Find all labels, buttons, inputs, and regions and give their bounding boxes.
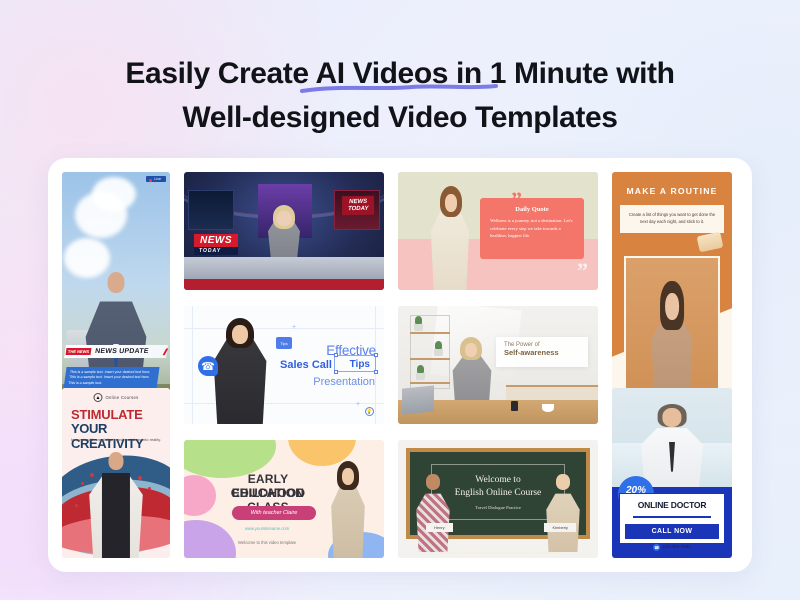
site-url[interactable]: www.yoursitename.com — [184, 526, 350, 531]
news-banner: THE NEWS NEWS UPDATE /// — [64, 345, 168, 358]
english-subtitle: Travel Dialogue Practice — [475, 505, 521, 510]
presenter-face — [445, 194, 457, 212]
chalkboard-inner-frame: Welcome to English Online Course Travel … — [431, 464, 565, 520]
guide-line — [184, 403, 384, 404]
template-grid: Live THE NEWS NEWS UPDATE /// This is a … — [62, 172, 738, 558]
template-card-online-doctor[interactable]: 20% OFF ONLINE DOCTOR CALL NOW ☎123-456-… — [612, 388, 732, 558]
news-logo-sub: TODAY — [194, 247, 238, 255]
live-badge: Live — [146, 176, 166, 182]
course-badge-label: Online Courses — [105, 395, 138, 400]
caption-text: Welcome to this video template — [184, 540, 350, 545]
page-title: Easily Create AI Videos in 1 Minute with… — [0, 52, 800, 139]
stimulate-title-1: STIMULATE — [71, 407, 143, 422]
template-card-sales-call-tips[interactable]: ☎ Tips + + Effective Sales Call Tips Pre… — [184, 306, 384, 424]
phone-icon: ☎ — [198, 356, 218, 376]
english-title-2: English Online Course — [455, 487, 542, 500]
template-card-english-online-course[interactable]: Welcome to English Online Course Travel … — [398, 440, 598, 558]
resize-handle[interactable] — [374, 370, 378, 374]
course-badge: ▲ Online Courses — [93, 393, 138, 402]
call-now-button[interactable]: CALL NOW — [625, 524, 719, 539]
quote-title: Daily Quote — [490, 206, 574, 213]
presenter-right-face — [556, 474, 570, 489]
template-card-make-a-routine[interactable]: MAKE A ROUTINE Create a list of things y… — [612, 172, 732, 424]
lightbulb-icon: 💡 — [365, 407, 374, 416]
anchor-face — [277, 211, 292, 226]
shelf-board — [410, 332, 450, 334]
slash-decor-icon: /// — [163, 347, 166, 357]
routine-title: MAKE A ROUTINE — [612, 186, 732, 196]
phone-icon: ☎ — [653, 544, 660, 551]
presenter-head — [108, 272, 125, 293]
plant-icon — [434, 348, 443, 356]
headline-line-1: Easily Create AI Videos in 1 Minute with — [0, 52, 800, 96]
studio-desk-front — [184, 279, 384, 290]
crosshair-icon: + — [292, 324, 296, 331]
breaking-tag: THE NEWS — [66, 348, 92, 355]
credenza — [506, 385, 598, 400]
steam-plume-icon — [64, 238, 110, 278]
plant-icon — [416, 372, 425, 380]
template-card-daily-quote[interactable]: ” Daily Quote Wellness is a journey, not… — [398, 172, 598, 290]
news-screen-logo: NEWS TODAY — [341, 195, 374, 215]
doctor-face — [662, 408, 681, 426]
stimulate-title-2: YOUR CREATIVITY — [71, 421, 170, 451]
template-card-stimulate-creativity[interactable]: ▲ Online Courses STIMULATE YOUR CREATIVI… — [62, 388, 170, 558]
presenter-head — [109, 452, 124, 470]
presenter-face — [342, 468, 354, 485]
graduation-cap-icon: ▲ — [93, 393, 102, 402]
sales-title-highlight: Tips — [347, 358, 373, 371]
quote-body: Wellness is a journey, not a destination… — [490, 217, 574, 240]
template-gallery-panel: Live THE NEWS NEWS UPDATE /// This is a … — [48, 158, 752, 572]
stimulate-body: Innovate with creativity, transform idea… — [71, 437, 162, 443]
template-card-news-today-studio[interactable]: NEWS TODAY NEWS TODAY — [184, 172, 384, 290]
brush-underline-icon — [300, 82, 500, 96]
steam-plume-icon — [92, 177, 136, 211]
promo-card: ONLINE DOCTOR CALL NOW ☎123-456-7890 — [619, 493, 725, 544]
quote-box: Daily Quote Wellness is a journey, not a… — [480, 198, 584, 259]
news-banner-body: This is a sample text. Insert your desir… — [63, 367, 159, 389]
shelf-board — [410, 358, 450, 360]
divider — [633, 516, 711, 518]
sales-title-2: Sales Call — [280, 359, 332, 371]
shelf-board — [410, 382, 450, 384]
name-tag-right: Kimberly — [544, 523, 576, 532]
guide-line — [184, 328, 384, 329]
studio-screen-left — [188, 190, 234, 230]
news-screen-logo-bottom: TODAY — [348, 205, 369, 212]
guide-line — [192, 306, 193, 424]
resize-handle[interactable] — [374, 353, 378, 357]
phone-number-row[interactable]: ☎123-456-7890 — [625, 544, 719, 551]
template-card-early-childhood[interactable]: EARLY CHILDHOOD EDUCATION CLASS With tea… — [184, 440, 384, 558]
presenter-top — [102, 473, 130, 558]
news-logo-main: NEWS — [194, 234, 238, 247]
crosshair-icon: + — [356, 401, 360, 408]
doctor-title: ONLINE DOCTOR — [625, 500, 719, 510]
doctor-photo — [612, 388, 732, 490]
quote-mark-icon: ” — [577, 260, 588, 282]
dot-decor — [75, 504, 78, 507]
resize-handle[interactable] — [334, 353, 338, 357]
presenter-left-face — [426, 474, 440, 489]
smartphone-icon — [511, 401, 518, 411]
presenter-face — [665, 293, 679, 320]
routine-body: Create a list of things you want to get … — [627, 212, 717, 226]
presenter-face — [232, 325, 248, 344]
caption-text: Welcome to this English Conversation Pra… — [398, 550, 598, 555]
news-logo: NEWS TODAY — [194, 234, 238, 255]
phone-number: 123-456-7890 — [662, 544, 691, 549]
plant-icon — [414, 323, 423, 331]
title-panel: The Power of Self-awareness — [496, 337, 588, 368]
routine-photo-frame — [624, 256, 720, 404]
laptop-icon — [402, 386, 434, 415]
news-screen-logo-top: NEWS — [347, 198, 368, 205]
news-banner-title: NEWS UPDATE — [95, 348, 149, 355]
name-tag-left: Henry — [426, 523, 453, 532]
english-title-1: Welcome to — [475, 474, 520, 487]
teacher-pill: With teacher Claire — [232, 506, 316, 520]
presenter-face — [465, 343, 477, 357]
resize-handle[interactable] — [334, 370, 338, 374]
headline-line-2-text: Well-designed Video Templates — [0, 96, 800, 140]
routine-note-card: Create a list of things you want to get … — [620, 205, 724, 233]
template-card-self-awareness[interactable]: The Power of Self-awareness — [398, 306, 598, 424]
awareness-line-2: Self-awareness — [504, 348, 580, 357]
chat-bubble-icon: Tips — [276, 337, 292, 349]
template-card-news-update-vertical[interactable]: Live THE NEWS NEWS UPDATE /// This is a … — [62, 172, 170, 424]
sales-title-3: Presentation — [313, 376, 375, 388]
